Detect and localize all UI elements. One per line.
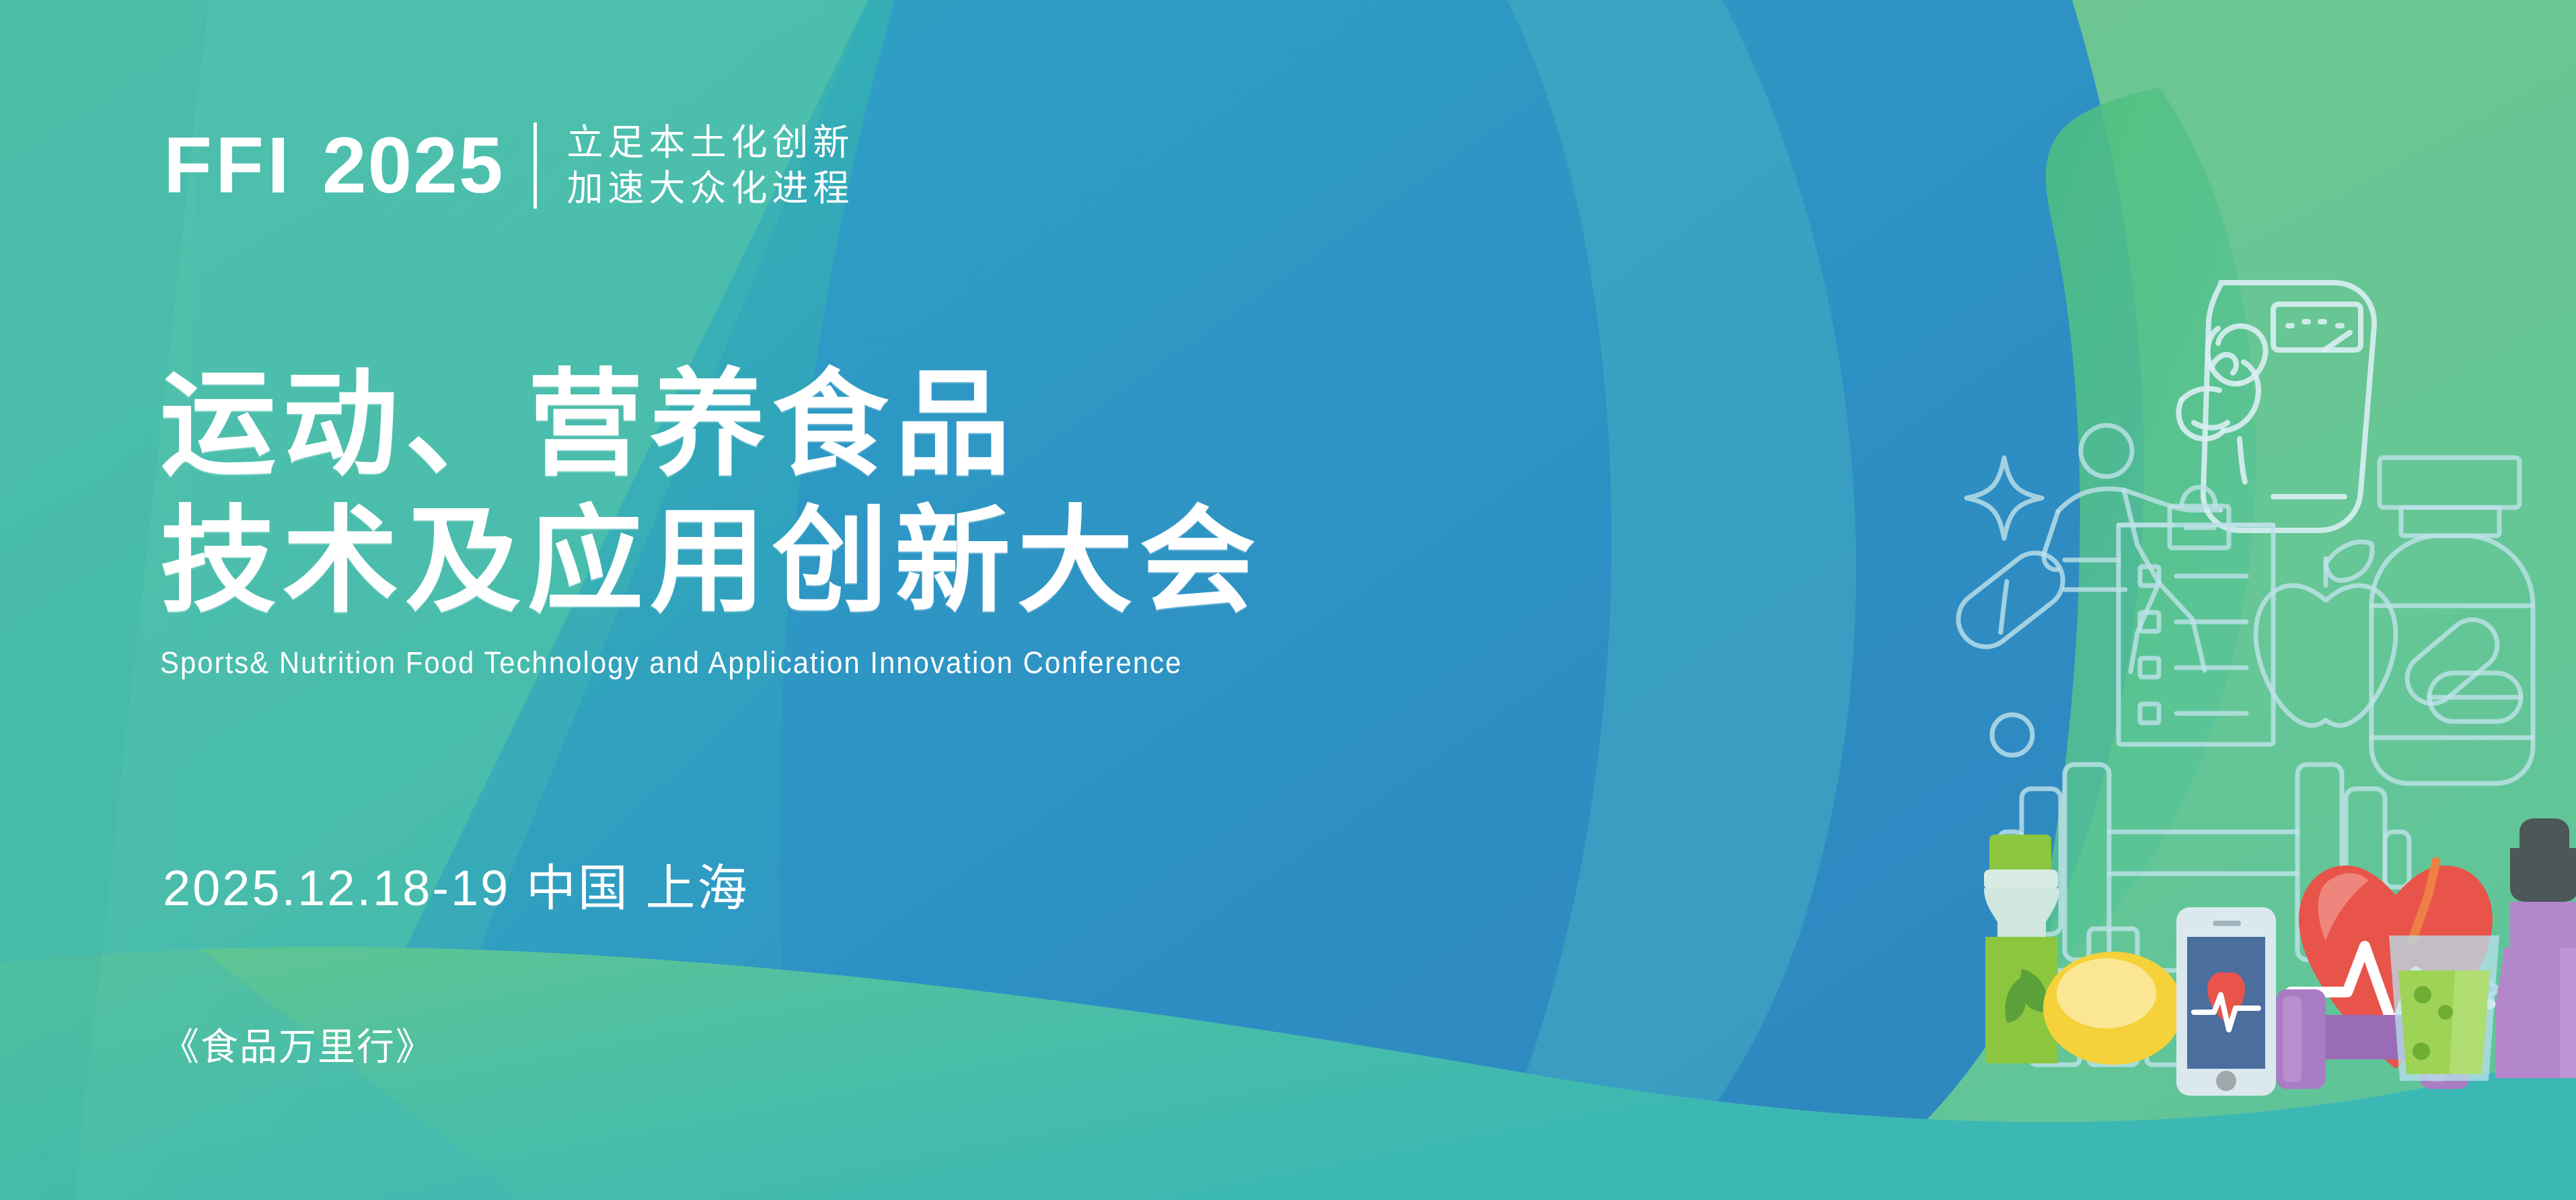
header-divider bbox=[533, 122, 537, 209]
lemon bbox=[2043, 952, 2183, 1065]
purple-sports-bottle bbox=[2495, 818, 2576, 1078]
orange-straw bbox=[2412, 861, 2436, 941]
running-figure-icon bbox=[2044, 425, 2221, 672]
play-triangle-icon bbox=[2456, 961, 2499, 1018]
brand-lockup: FFI 2025 立足本土化创新 加速大众化进程 bbox=[163, 122, 854, 209]
green-smoothie-bottle bbox=[1984, 835, 2059, 1063]
brand-year: 2025 bbox=[322, 126, 505, 205]
weight-scale-icon bbox=[2203, 283, 2374, 530]
conference-title-block: 运动、营养食品 技术及应用创新大会 Sports& Nutrition Food… bbox=[160, 357, 1262, 678]
fitness-nutrition-illustration: .ln { fill:none; stroke:#bfe2ea; stroke-… bbox=[1957, 256, 2576, 1077]
title-line-1: 运动、营养食品 bbox=[160, 357, 1262, 493]
apple-icon bbox=[2256, 542, 2396, 726]
tagline-block: 立足本土化创新 加速大众化进程 bbox=[566, 123, 854, 209]
brand-ffi: FFI bbox=[163, 126, 293, 205]
tagline-line-1: 立足本土化创新 bbox=[566, 123, 854, 162]
date-venue: 2025.12.18-19 中国 上海 bbox=[163, 863, 749, 913]
sparkle-icon bbox=[1966, 458, 2042, 538]
bar-chart-icon bbox=[2031, 929, 2195, 1065]
subtitle-english: Sports& Nutrition Food Technology and Ap… bbox=[160, 647, 1185, 678]
clipboard-checklist-icon bbox=[2119, 487, 2273, 744]
capsule-pill-icon bbox=[1947, 542, 2073, 658]
dark-bottle-cap bbox=[2519, 818, 2569, 848]
purple-dumbbell bbox=[2276, 989, 2470, 1089]
red-heart-ecg bbox=[2291, 866, 2493, 1069]
smartphone-heartrate bbox=[2176, 907, 2276, 1096]
circle-icon bbox=[1992, 715, 2032, 755]
green-juice-glass bbox=[2389, 861, 2499, 1081]
flexed-bicep-icon bbox=[2178, 326, 2265, 482]
organizer-name: 《食品万里行》 bbox=[161, 1028, 435, 1066]
title-line-2: 技术及应用创新大会 bbox=[160, 493, 1262, 630]
supplement-jar-icon bbox=[2371, 458, 2533, 783]
conference-banner: .ln { fill:none; stroke:#bfe2ea; stroke-… bbox=[0, 0, 2576, 1200]
capsule-pill-icon bbox=[2378, 882, 2487, 994]
barbell-icon bbox=[1999, 765, 2409, 960]
tagline-line-2: 加速大众化进程 bbox=[566, 169, 854, 208]
